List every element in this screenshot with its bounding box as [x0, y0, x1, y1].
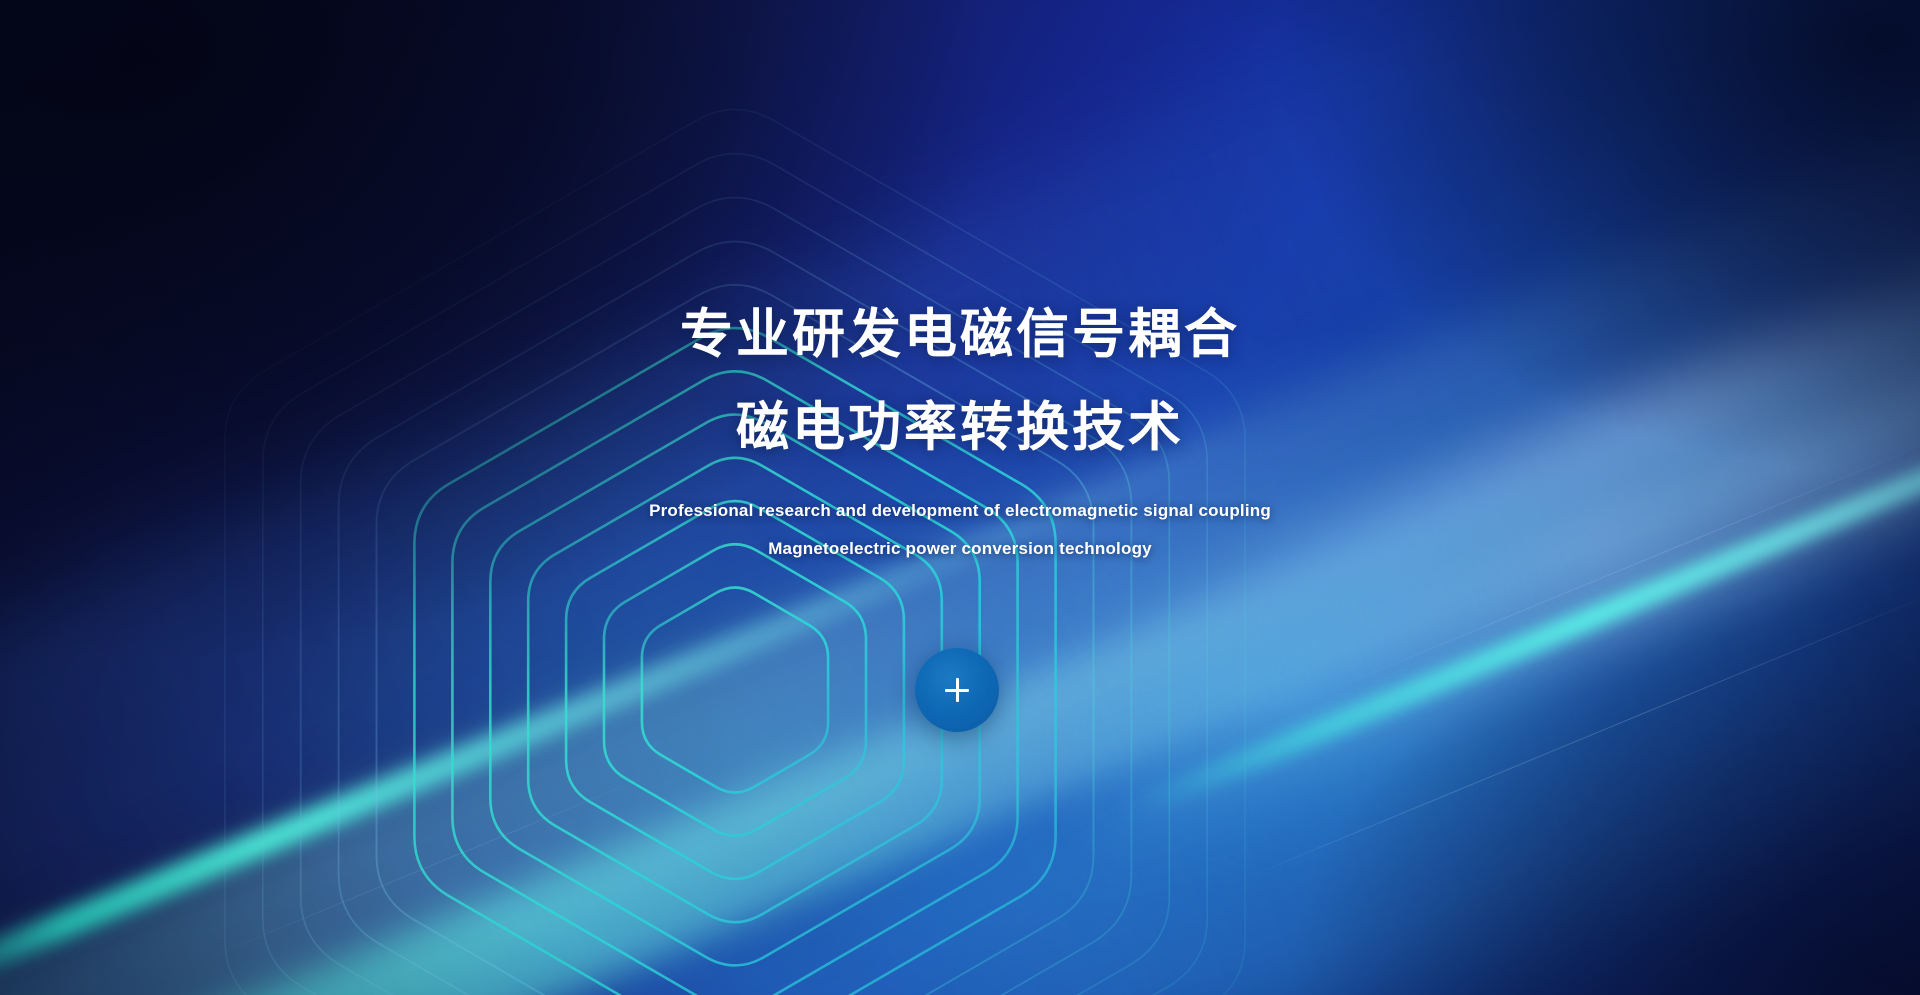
hero-subtitle-line-1: Professional research and development of…: [0, 492, 1920, 530]
plus-icon-vertical-bar: [956, 678, 959, 702]
hero-subtitle-line-2: Magnetoelectric power conversion technol…: [0, 530, 1920, 568]
hexagon-ring: [642, 588, 828, 793]
hexagon-ring: [263, 154, 1207, 995]
hero-title-line-2: 磁电功率转换技术: [0, 381, 1920, 474]
hero-subtitle: Professional research and development of…: [0, 492, 1920, 568]
hero-banner-stage: 专业研发电磁信号耦合 磁电功率转换技术 Professional researc…: [0, 0, 1920, 995]
hero-title-line-1: 专业研发电磁信号耦合: [0, 288, 1920, 381]
expand-plus-button[interactable]: [915, 648, 999, 732]
hero-title: 专业研发电磁信号耦合 磁电功率转换技术: [0, 288, 1920, 474]
